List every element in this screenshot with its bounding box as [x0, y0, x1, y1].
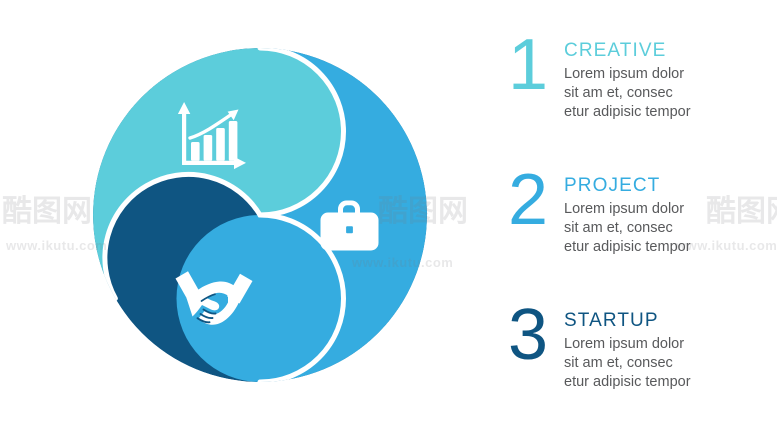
- circle-diagram-svg: [0, 0, 480, 437]
- step-description-creative: Lorem ipsum dolor sit am et, consec etur…: [564, 65, 777, 123]
- step-body-startup: STARTUP Lorem ipsum dolor sit am et, con…: [564, 306, 777, 393]
- step-item-creative[interactable]: 1 CREATIVE Lorem ipsum dolor sit am et, …: [508, 36, 777, 171]
- step-number-3: 3: [508, 302, 564, 368]
- circle-diagram: [0, 0, 480, 437]
- step-title-project: PROJECT: [564, 175, 777, 197]
- step-description-startup: Lorem ipsum dolor sit am et, consec etur…: [564, 335, 777, 393]
- step-item-project[interactable]: 2 PROJECT Lorem ipsum dolor sit am et, c…: [508, 171, 777, 306]
- infographic-root: 1 CREATIVE Lorem ipsum dolor sit am et, …: [0, 0, 777, 437]
- step-title-startup: STARTUP: [564, 310, 777, 332]
- step-body-creative: CREATIVE Lorem ipsum dolor sit am et, co…: [564, 36, 777, 123]
- step-item-startup[interactable]: 3 STARTUP Lorem ipsum dolor sit am et, c…: [508, 306, 777, 441]
- steps-list: 1 CREATIVE Lorem ipsum dolor sit am et, …: [480, 0, 777, 437]
- step-title-creative: CREATIVE: [564, 40, 777, 62]
- step-body-project: PROJECT Lorem ipsum dolor sit am et, con…: [564, 171, 777, 258]
- step-description-project: Lorem ipsum dolor sit am et, consec etur…: [564, 200, 777, 258]
- step-number-2: 2: [508, 167, 564, 233]
- step-number-1: 1: [508, 32, 564, 98]
